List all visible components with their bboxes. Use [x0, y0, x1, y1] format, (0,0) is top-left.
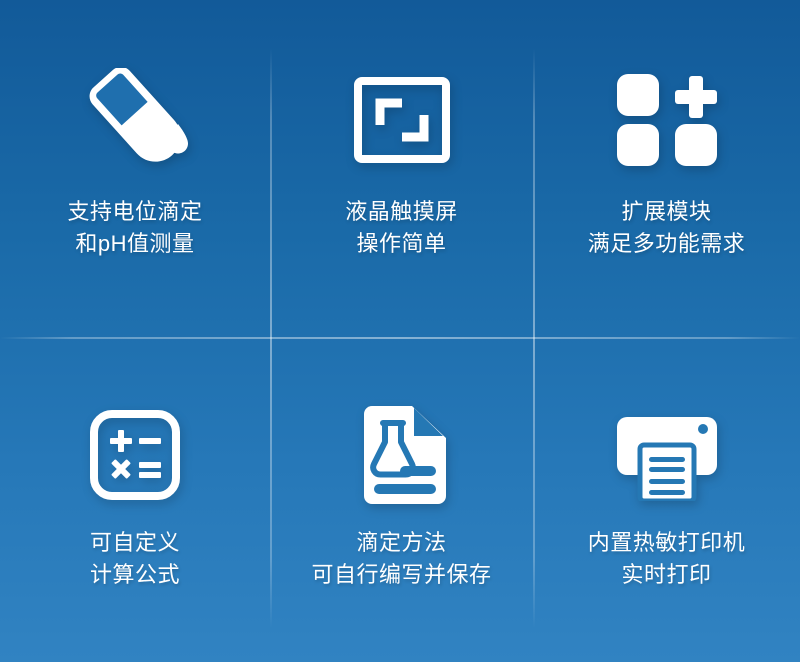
feature-label: 扩展模块 满足多功能需求 [588, 196, 746, 260]
feature-label: 内置热敏打印机 实时打印 [588, 527, 746, 591]
feature-cell-expansion-module[interactable]: 扩展模块 满足多功能需求 [533, 0, 800, 337]
lcd-touchscreen-icon [354, 66, 450, 174]
feature-label-line1: 滴定方法 [356, 530, 446, 555]
feature-label-line1: 支持电位滴定 [67, 199, 202, 224]
feature-label-line2: 计算公式 [90, 559, 180, 591]
feature-label-line1: 可自定义 [90, 530, 180, 555]
feature-label-line1: 内置热敏打印机 [588, 530, 746, 555]
feature-label: 滴定方法 可自行编写并保存 [311, 527, 491, 591]
feature-cell-potentiometric-titration[interactable]: 支持电位滴定 和pH值测量 [0, 0, 270, 337]
feature-cell-titration-method[interactable]: 滴定方法 可自行编写并保存 [270, 337, 533, 662]
feature-cell-thermal-printer[interactable]: 内置热敏打印机 实时打印 [533, 337, 800, 662]
feature-label-line1: 液晶触摸屏 [345, 199, 458, 224]
test-tube-drop-icon [74, 66, 196, 174]
feature-label-line2: 和pH值测量 [67, 228, 202, 260]
feature-cell-custom-formula[interactable]: 可自定义 计算公式 [0, 337, 270, 662]
feature-label-line2: 实时打印 [588, 559, 746, 591]
thermal-printer-icon [617, 399, 717, 511]
feature-grid: 支持电位滴定 和pH值测量 液晶触摸屏 操作简单 [0, 0, 800, 662]
feature-grid-banner: 支持电位滴定 和pH值测量 液晶触摸屏 操作简单 [0, 0, 800, 662]
feature-label-line2: 操作简单 [345, 228, 458, 260]
feature-label: 可自定义 计算公式 [90, 527, 180, 591]
feature-label-line2: 可自行编写并保存 [311, 559, 491, 591]
feature-cell-lcd-touchscreen[interactable]: 液晶触摸屏 操作简单 [270, 0, 533, 337]
feature-label: 支持电位滴定 和pH值测量 [67, 196, 202, 260]
feature-label: 液晶触摸屏 操作简单 [345, 196, 458, 260]
feature-label-line2: 满足多功能需求 [588, 228, 746, 260]
calculator-icon [90, 399, 180, 511]
flask-document-icon [358, 399, 446, 511]
feature-label-line1: 扩展模块 [621, 199, 711, 224]
expansion-module-add-icon [617, 66, 717, 174]
